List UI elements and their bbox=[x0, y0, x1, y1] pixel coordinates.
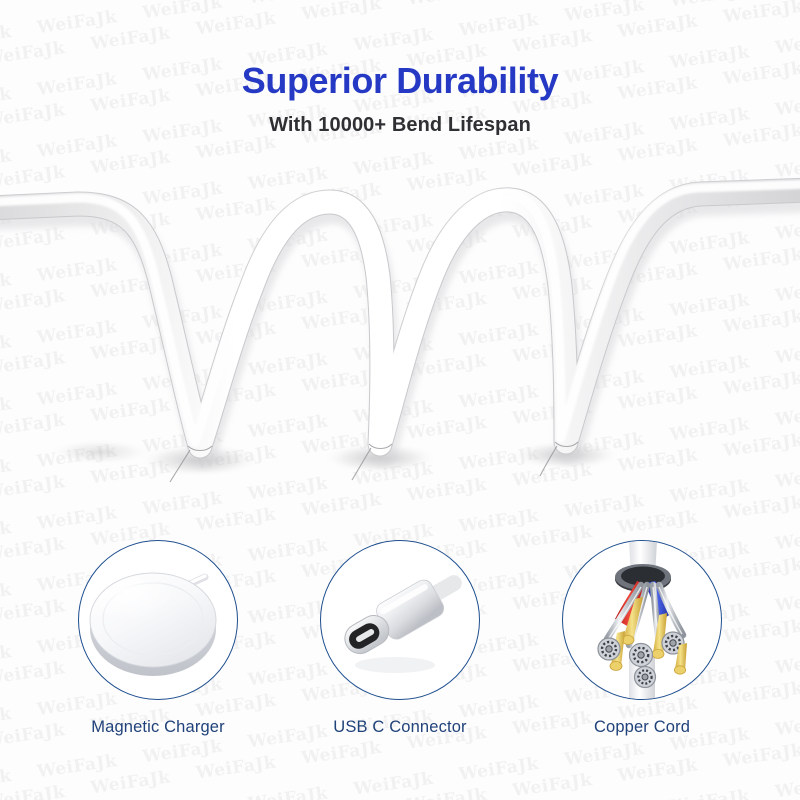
product-feature-page: WeiFaJkWeiFaJkWeiFaJkWeiFaJkWeiFaJkWeiFa… bbox=[0, 0, 800, 800]
bent-cable-photo bbox=[0, 160, 800, 500]
feature-usb-c-connector[interactable]: USB C Connector bbox=[279, 540, 521, 737]
feature-row: Magnetic Charger bbox=[0, 540, 800, 780]
page-title: Superior Durability bbox=[0, 62, 800, 100]
header-block: Superior Durability With 10000+ Bend Lif… bbox=[0, 62, 800, 137]
feature-circle-magnetic-charger bbox=[78, 540, 238, 700]
magnetic-charger-puck-icon bbox=[79, 541, 237, 699]
feature-magnetic-charger[interactable]: Magnetic Charger bbox=[37, 540, 279, 737]
watermark-text: WeiFaJkWeiFaJkWeiFaJkWeiFaJkWeiFaJkWeiFa… bbox=[0, 0, 800, 52]
page-subtitle: With 10000+ Bend Lifespan bbox=[0, 114, 800, 137]
feature-circle-usb-c-connector bbox=[320, 540, 480, 700]
feature-label-copper-cord: Copper Cord bbox=[594, 718, 690, 737]
watermark-text: WeiFaJkWeiFaJkWeiFaJkWeiFaJkWeiFaJkWeiFa… bbox=[0, 0, 800, 21]
feature-label-usb-c-connector: USB C Connector bbox=[333, 718, 466, 737]
copper-cord-cutaway-icon bbox=[563, 541, 721, 699]
feature-copper-cord[interactable]: Copper Cord bbox=[521, 540, 763, 737]
cable-bend-shadows bbox=[48, 439, 621, 477]
braid-cross-sections bbox=[598, 632, 684, 688]
cable-path-group bbox=[0, 184, 800, 455]
feature-circle-copper-cord bbox=[562, 540, 722, 700]
feature-label-magnetic-charger: Magnetic Charger bbox=[91, 718, 225, 737]
usb-c-plug-icon bbox=[321, 541, 479, 699]
